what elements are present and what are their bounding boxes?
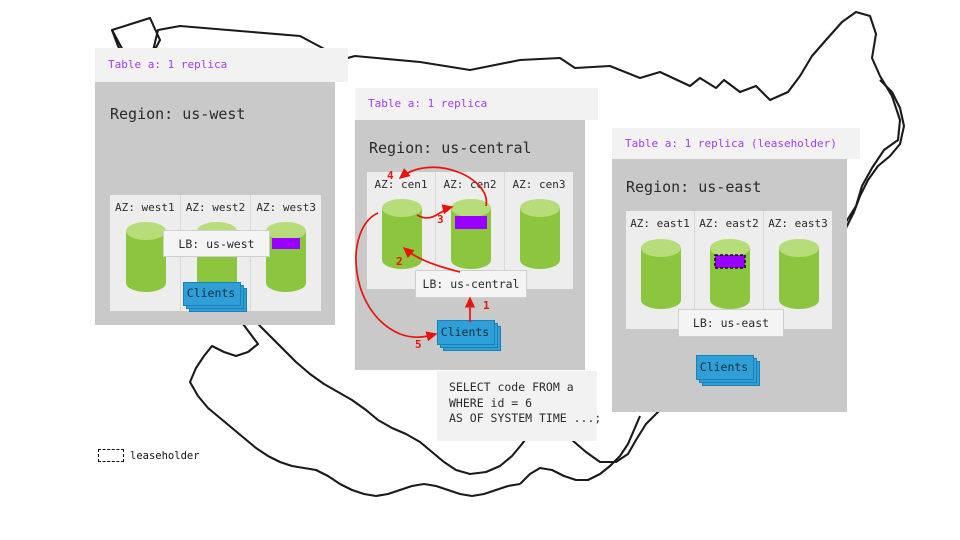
region-panel-us-west: Region: us-west AZ: west1 AZ: west2 AZ: … (95, 82, 335, 325)
replica-cylinder-west3[interactable] (264, 221, 308, 293)
az-label-west2: AZ: west2 (181, 202, 251, 214)
leaseholder-dashed-rect-icon (98, 449, 124, 462)
clients-us-west[interactable]: Clients (183, 282, 249, 314)
region-title-us-east: Table a: 1 replica (leaseholder) (612, 128, 860, 159)
region-label-us-west: Region: us-west (110, 106, 245, 122)
az-label-west1: AZ: west1 (110, 202, 180, 214)
diagram-canvas: Table a: 1 replica Region: us-west AZ: w… (0, 0, 960, 540)
region-panel-us-east: Region: us-east AZ: east1 AZ: east2 AZ: … (612, 159, 847, 412)
region-title-label: Table a: 1 replica (368, 98, 487, 110)
region-title-us-west: Table a: 1 replica (95, 48, 348, 82)
az-label-east1: AZ: east1 (626, 218, 694, 230)
replica-cylinder-west1[interactable] (124, 221, 168, 293)
sql-query-box: SELECT code FROM a WHERE id = 6 AS OF SY… (437, 371, 597, 441)
az-label-east2: AZ: east2 (695, 218, 763, 230)
load-balancer-label: LB: us-west (178, 237, 254, 251)
clients-label: Clients (437, 320, 493, 343)
az-label-cen3: AZ: cen3 (505, 179, 573, 191)
load-balancer-us-central[interactable]: LB: us-central (415, 270, 527, 298)
range-marker-west3 (272, 238, 300, 249)
region-title-us-central: Table a: 1 replica (355, 88, 598, 120)
az-label-cen2: AZ: cen2 (436, 179, 504, 191)
region-label-us-central: Region: us-central (369, 140, 532, 156)
flow-step-number-1: 1 (483, 300, 490, 312)
replica-cylinder-east3[interactable] (777, 238, 821, 310)
flow-step-number-4: 4 (387, 170, 394, 182)
load-balancer-label: LB: us-central (423, 277, 520, 291)
region-panel-us-central: Region: us-central AZ: cen1 AZ: cen2 AZ:… (355, 120, 585, 370)
load-balancer-label: LB: us-east (693, 316, 769, 330)
load-balancer-us-east[interactable]: LB: us-east (678, 309, 784, 337)
az-label-east3: AZ: east3 (764, 218, 832, 230)
replica-cylinder-east1[interactable] (639, 238, 683, 310)
clients-label: Clients (696, 355, 752, 378)
legend-label: leaseholder (130, 450, 200, 462)
region-label-us-east: Region: us-east (626, 179, 761, 195)
clients-us-east[interactable]: Clients (696, 355, 762, 388)
az-label-west3: AZ: west3 (251, 202, 321, 214)
replica-cylinder-cen2[interactable] (449, 198, 493, 270)
region-title-label: Table a: 1 replica (leaseholder) (625, 138, 837, 150)
range-marker-leaseholder-east2 (715, 255, 745, 268)
range-marker-cen2 (455, 216, 487, 229)
load-balancer-us-west[interactable]: LB: us-west (163, 230, 270, 257)
replica-cylinder-east2[interactable] (708, 238, 752, 310)
flow-step-number-2: 2 (396, 256, 403, 268)
replica-cylinder-cen3[interactable] (518, 198, 562, 270)
clients-label: Clients (183, 282, 239, 304)
clients-us-central[interactable]: Clients (437, 320, 503, 352)
region-title-label: Table a: 1 replica (108, 59, 227, 71)
flow-step-number-5: 5 (415, 339, 422, 351)
legend: leaseholder (98, 449, 200, 462)
az-label-cen1: AZ: cen1 (367, 179, 435, 191)
flow-step-number-3: 3 (437, 214, 444, 226)
